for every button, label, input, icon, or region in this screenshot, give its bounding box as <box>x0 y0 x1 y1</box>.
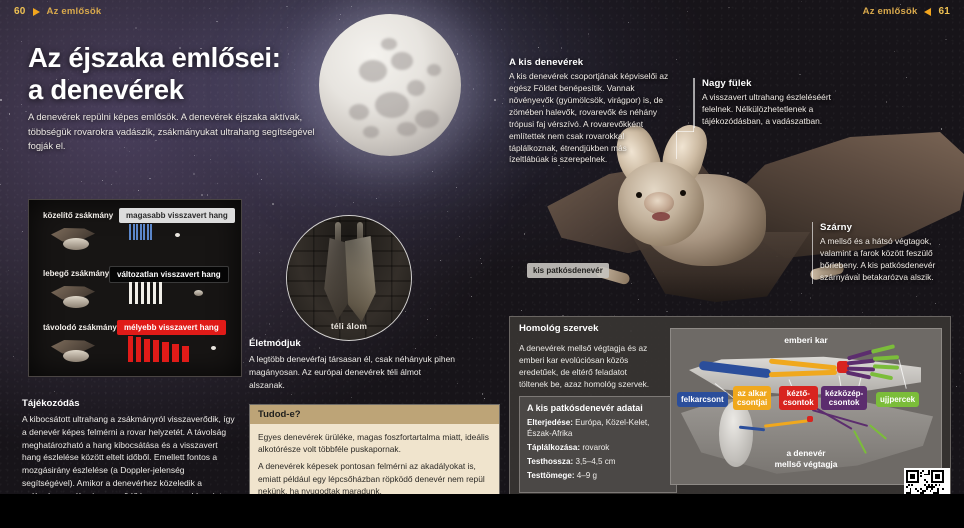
sound-wave-high <box>129 224 152 240</box>
did-you-know-heading: Tudod-e? <box>250 405 499 424</box>
prey-dot <box>175 233 180 237</box>
limb-comparison-diagram: emberi kar <box>670 328 942 485</box>
callout-heading: Nagy fülek <box>702 78 852 89</box>
label-kezkozep-csontok: kézközép- csontok <box>821 386 867 410</box>
species-data-value: 4–9 g <box>577 471 597 480</box>
bat-eye-left <box>636 192 642 198</box>
did-you-know-box: Tudod-e? Egyes denevérek ürüléke, magas … <box>249 404 500 506</box>
magazine-spread: kis patkósdenevér 60 Az emlősök Az emlős… <box>0 0 964 528</box>
diagram-title: emberi kar <box>671 335 941 345</box>
leader-line-ears-down <box>676 131 677 159</box>
echo-row-caption: közelítő zsákmány <box>43 211 113 220</box>
echo-row-approaching: közelítő zsákmány magasabb visszavert ha… <box>29 206 241 264</box>
sound-wave-low <box>128 336 189 362</box>
did-you-know-paragraph: Egyes denevérek ürüléke, magas foszforta… <box>258 431 491 455</box>
species-data-row: Testhossza: 3,5–4,5 cm <box>527 457 669 468</box>
page-title: Az éjszaka emlősei: a denevérek <box>28 42 358 106</box>
mini-bat-icon <box>51 338 95 364</box>
leader-line-ears-h <box>676 131 694 132</box>
species-data-label: Elterjedése: <box>527 418 573 427</box>
echo-row-pill: mélyebb visszavert hang <box>117 320 226 335</box>
label-ujjpercek: ujjpercek <box>876 392 919 407</box>
bone-phalanges-human-1 <box>871 344 895 354</box>
bat-noseleaf <box>644 192 674 214</box>
echo-row-caption: lebegő zsákmány <box>43 269 109 278</box>
species-data-box: A kis patkósdenevér adatai Elterjedése: … <box>519 396 677 493</box>
diagram-footer: a denevér mellső végtagja <box>671 448 941 470</box>
mini-bat-icon <box>51 226 95 252</box>
species-data-label: Testhossza: <box>527 457 573 466</box>
sound-wave-constant <box>129 282 162 304</box>
title-line-1: Az éjszaka emlősei: <box>28 42 358 74</box>
callout-nagy-fulek: Nagy fülek A visszavert ultrahang észlel… <box>694 78 852 128</box>
prey-dot <box>194 290 203 296</box>
species-data-row: Táplálkozása: rovarok <box>527 443 669 454</box>
callout-szarny: Szárny A mellső és a hátsó végtagok, val… <box>812 222 964 284</box>
did-you-know-body: Egyes denevérek ürüléke, magas foszforta… <box>250 424 499 505</box>
chapter-label-right: Az emlősök <box>863 6 918 17</box>
label-kezto-csontok: kéztő- csontok <box>779 386 818 410</box>
bat-photo-caption: kis patkósdenevér <box>527 263 609 278</box>
species-data-value: 3,5–4,5 cm <box>575 457 615 466</box>
bone-phalanges-human-2 <box>873 355 899 361</box>
species-data-row: Elterjedése: Európa, Közel-Kelet, Észak-… <box>527 418 669 440</box>
echo-row-receding: távolodó zsákmány mélyebb visszavert han… <box>29 318 241 376</box>
echo-row-pill: magasabb visszavert hang <box>119 208 235 223</box>
echo-row-caption: távolodó zsákmány <box>43 323 117 332</box>
species-data-title: A kis patkósdenevér adatai <box>527 403 669 413</box>
did-you-know-paragraph: A denevérek képesek pontosan felmérni az… <box>258 460 491 497</box>
homologous-organs-panel: Homológ szervek A denevérek mellső végta… <box>509 316 951 495</box>
arrow-right-icon <box>33 8 40 16</box>
lifestyle-block: Életmódjuk A legtöbb denevérfaj társasan… <box>249 338 459 391</box>
label-felkarcsont: felkarcsont <box>677 392 728 407</box>
echo-row-hovering: lebegő zsákmány változatlan visszavert h… <box>29 264 241 322</box>
chapter-label-left: Az emlősök <box>47 6 102 17</box>
species-data-row: Testtömege: 4–9 g <box>527 471 669 482</box>
title-line-2: a denevérek <box>28 74 358 106</box>
species-data-value: rovarok <box>582 443 609 452</box>
callout-a-kis-denverek: A kis denevérek A kis denevérek csoportj… <box>509 57 669 166</box>
callout-body: A visszavert ultrahang észleléséért fele… <box>702 92 852 128</box>
callout-heading: Szárny <box>820 222 964 233</box>
header-left: 60 Az emlősök <box>14 6 101 17</box>
hibernation-caption: téli álom <box>286 321 412 331</box>
lifestyle-heading: Életmódjuk <box>249 338 459 349</box>
species-data-label: Testtömege: <box>527 471 575 480</box>
bat-mouth <box>652 212 670 221</box>
bottom-black-band <box>0 494 964 528</box>
callout-heading: A kis denevérek <box>509 57 669 68</box>
orientation-heading: Tájékozódás <box>22 398 236 409</box>
header-right: Az emlősök 61 <box>863 6 950 17</box>
prey-dot <box>211 346 216 350</box>
homolog-intro: A denevérek mellső végtagja és az emberi… <box>519 342 655 390</box>
species-data-label: Táplálkozása: <box>527 443 580 452</box>
echo-row-pill: változatlan visszavert hang <box>109 266 229 283</box>
lifestyle-body: A legtöbb denevérfaj társasan él, csak n… <box>249 353 459 391</box>
echolocation-panel: közelítő zsákmány magasabb visszavert ha… <box>28 199 242 377</box>
leader-line-ears-v <box>693 78 694 132</box>
hibernating-bat-figure: téli álom <box>286 215 412 341</box>
mini-bat-icon <box>51 284 95 310</box>
label-alkar-csontjai: az alkar csontjai <box>733 386 771 410</box>
bat-eye-right <box>680 190 686 196</box>
callout-body: A mellső és a hátsó végtagok, valamint a… <box>820 236 964 284</box>
page-number-right: 61 <box>938 6 950 17</box>
lede-paragraph: A denevérek repülni képes emlősök. A den… <box>28 110 324 154</box>
arrow-left-icon <box>924 8 931 16</box>
callout-body: A kis denevérek csoportjának képviselői … <box>509 71 669 166</box>
page-number-left: 60 <box>14 6 26 17</box>
bone-carpals-bat <box>807 416 813 422</box>
